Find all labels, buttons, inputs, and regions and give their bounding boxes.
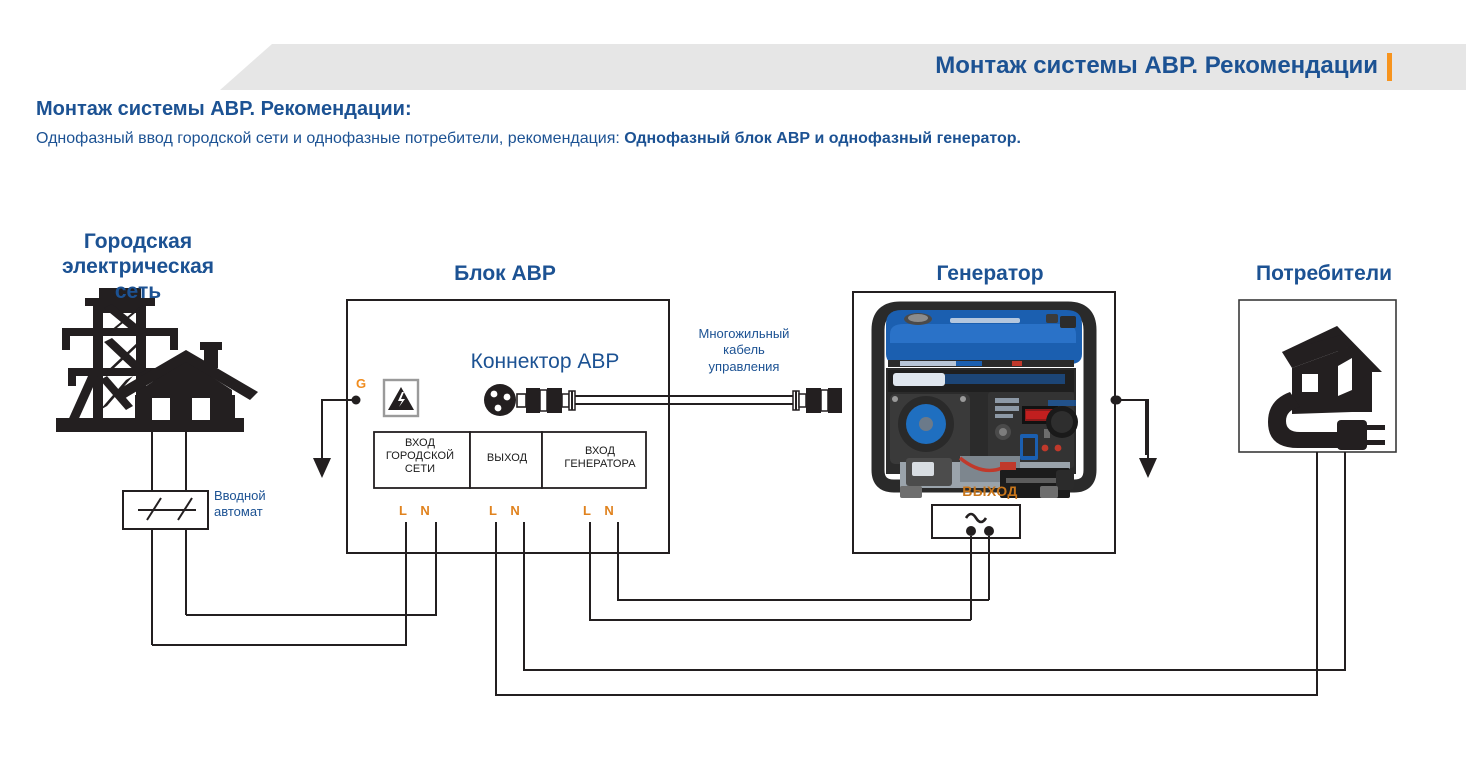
wiring-generator-to-ats bbox=[590, 553, 989, 620]
wiring-mains-to-ats bbox=[152, 553, 436, 645]
wiring-node-dots bbox=[1113, 396, 1122, 405]
intro-paragraph: Однофазный ввод городской сети и однофаз… bbox=[36, 127, 1366, 152]
section-title-consumers: Потребители bbox=[1200, 262, 1448, 287]
wiring-diagram: Городская электрическая сеть Блок АВР Ге… bbox=[0, 200, 1466, 780]
city-grid-icon bbox=[56, 288, 258, 432]
ats-connector-socket bbox=[484, 384, 516, 416]
label-control-cable: Многожильный кабель управления bbox=[672, 326, 816, 375]
ats-pins-generator-input: L N bbox=[583, 503, 619, 518]
generator-image bbox=[862, 308, 1106, 504]
ats-terminal-label-output: ВЫХОД bbox=[474, 452, 540, 465]
label-input-breaker: Вводной автомат bbox=[214, 488, 324, 521]
ats-pins-mains-input: L N bbox=[399, 503, 435, 518]
generator-ground-symbol bbox=[1111, 396, 1158, 479]
page-title: Монтаж системы АВР. Рекомендации: bbox=[36, 98, 1436, 121]
section-title-grid: Городская электрическая сеть bbox=[8, 230, 268, 304]
intro-text-emphasis: Однофазный блок АВР и однофазный генерат… bbox=[624, 130, 1021, 147]
header-title: Монтаж системы АВР. Рекомендации bbox=[935, 52, 1378, 80]
intro-block: Монтаж системы АВР. Рекомендации: Однофа… bbox=[36, 98, 1436, 152]
ats-terminal-label-mains-input: ВХОД ГОРОДСКОЙ СЕТИ bbox=[374, 437, 466, 476]
consumers-feed bbox=[1117, 400, 1146, 455]
section-title-generator: Генератор bbox=[870, 262, 1110, 287]
ats-pins-output: L N bbox=[489, 503, 525, 518]
section-title-ats-block: Блок АВР bbox=[380, 262, 630, 287]
generator-output-symbol bbox=[932, 505, 1020, 620]
slide-canvas: Монтаж системы АВР. Рекомендации Монтаж … bbox=[0, 0, 1466, 780]
intro-text-plain: Однофазный ввод городской сети и однофаз… bbox=[36, 130, 624, 147]
header-accent-bar bbox=[1387, 53, 1392, 81]
control-cable-plug-right bbox=[793, 388, 842, 413]
electrical-hazard-icon bbox=[384, 380, 418, 416]
ats-terminal-label-generator-input: ВХОД ГЕНЕРАТОРА bbox=[556, 445, 644, 471]
label-ground-terminal: G bbox=[356, 376, 366, 391]
label-generator-output: ВЫХОД bbox=[930, 483, 1050, 499]
label-ats-connector: Коннектор АВР bbox=[430, 350, 660, 374]
input-breaker-symbol bbox=[123, 432, 208, 645]
consumers-icon bbox=[1239, 300, 1396, 452]
